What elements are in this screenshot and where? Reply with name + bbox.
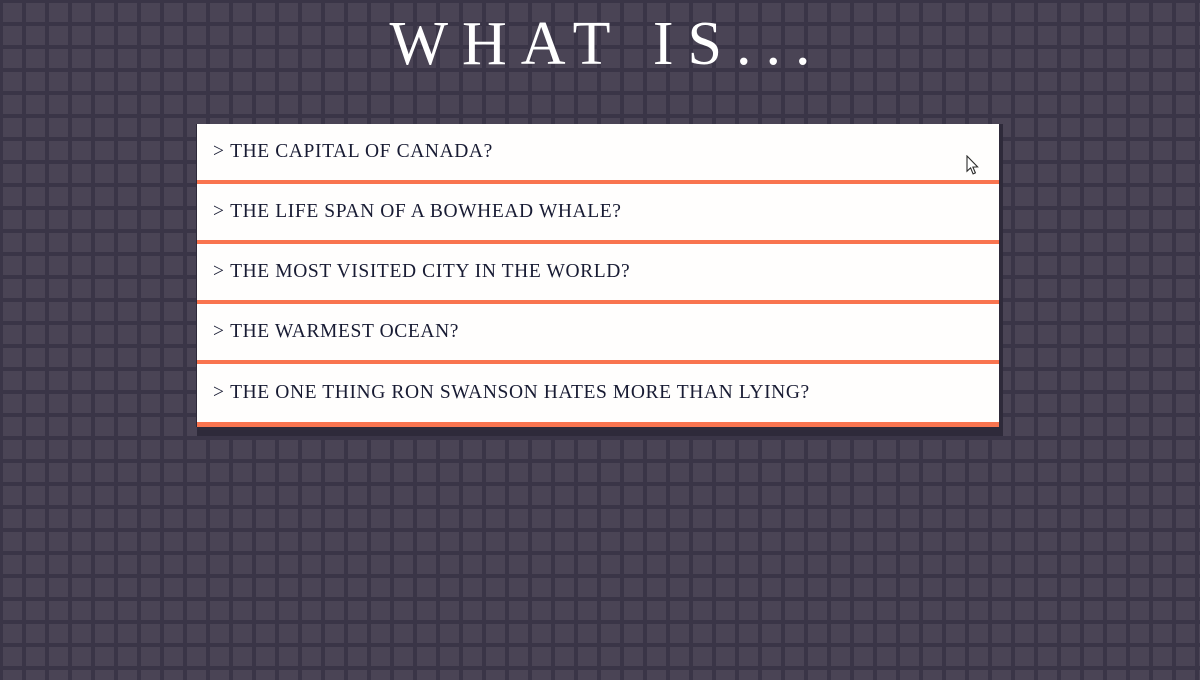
question-prefix-marker: >: [213, 321, 225, 342]
question-text: THE MOST VISITED CITY IN THE WORLD?: [230, 261, 630, 282]
question-list-panel: > THE CAPITAL OF CANADA? > THE LIFE SPAN…: [197, 124, 999, 427]
question-row[interactable]: > THE WARMEST OCEAN?: [197, 304, 999, 364]
question-label: > THE CAPITAL OF CANADA?: [197, 142, 493, 162]
question-label: > THE WARMEST OCEAN?: [197, 322, 459, 342]
question-label: > THE LIFE SPAN OF A BOWHEAD WHALE?: [197, 202, 621, 222]
question-row[interactable]: > THE LIFE SPAN OF A BOWHEAD WHALE?: [197, 184, 999, 244]
question-text: THE CAPITAL OF CANADA?: [230, 141, 493, 162]
question-prefix-marker: >: [213, 261, 225, 282]
question-prefix-marker: >: [213, 201, 225, 222]
page-title: WHAT IS...: [0, 8, 1200, 80]
question-text: THE LIFE SPAN OF A BOWHEAD WHALE?: [230, 201, 621, 222]
question-prefix-marker: >: [213, 382, 225, 403]
question-label: > THE MOST VISITED CITY IN THE WORLD?: [197, 262, 630, 282]
question-row[interactable]: > THE ONE THING RON SWANSON HATES MORE T…: [197, 364, 999, 422]
question-row[interactable]: > THE MOST VISITED CITY IN THE WORLD?: [197, 244, 999, 304]
question-label: > THE ONE THING RON SWANSON HATES MORE T…: [197, 383, 810, 403]
question-text: THE WARMEST OCEAN?: [230, 321, 459, 342]
question-text: THE ONE THING RON SWANSON HATES MORE THA…: [230, 382, 810, 403]
question-row[interactable]: > THE CAPITAL OF CANADA?: [197, 124, 999, 184]
question-prefix-marker: >: [213, 141, 225, 162]
